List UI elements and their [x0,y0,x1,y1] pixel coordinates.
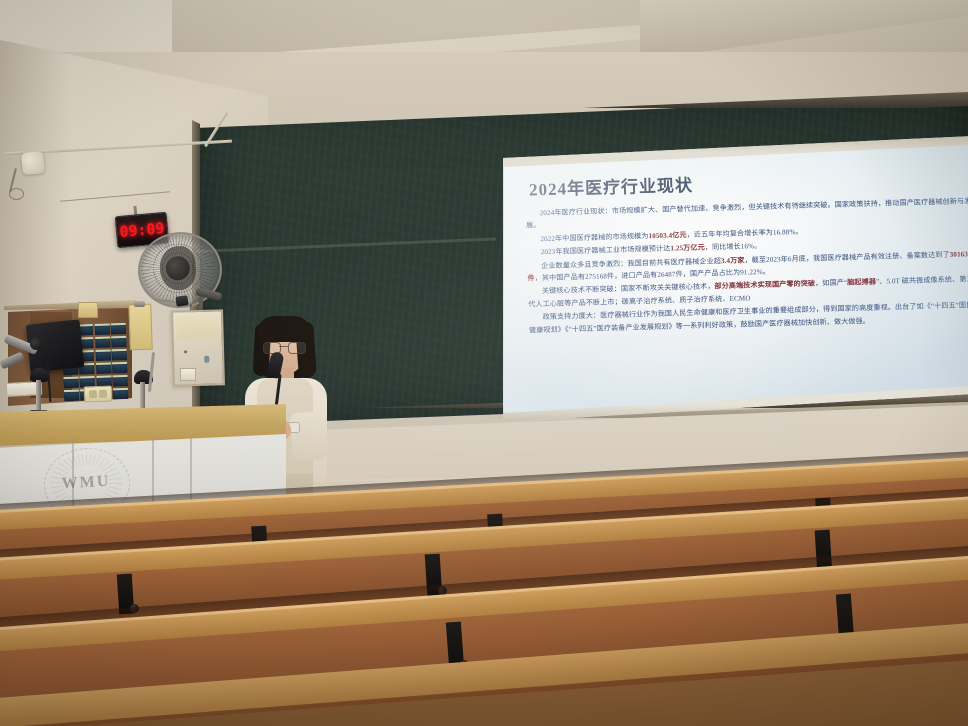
key-slot[interactable] [112,362,127,374]
notice-marker-icon [204,356,209,363]
key-slot[interactable] [94,323,109,335]
emergency-light-loop [9,188,24,200]
key-slot[interactable] [111,336,126,348]
presentation-slide: 2024年医疗行业现状 2024年医疗行业现状：市场规模扩大、国产替代加速、竞争… [496,136,968,422]
motion-sensor [175,295,188,307]
projection-screen: 2024年医疗行业现状 2024年医疗行业现状：市场规模扩大、国产替代加速、竞争… [496,136,968,422]
power-socket-pair[interactable] [84,386,113,403]
notice-sub-card [180,368,196,381]
key-slot[interactable] [63,376,78,388]
key-slot[interactable] [96,362,111,374]
slide-title: 2024年医疗行业现状 [529,171,694,201]
key-slot[interactable] [113,375,128,387]
presenter-hair-front [257,316,311,342]
wall-clipboard[interactable] [128,304,153,351]
key-slot[interactable] [95,336,110,348]
key-slot[interactable] [64,389,79,401]
key-slot[interactable] [95,349,110,361]
monitor-arm-joint [30,338,42,350]
slide-body: 2024年医疗行业现状：市场规模扩大、国产替代加速、竞争激烈，但关键技术有待继续… [526,195,968,338]
key-slot[interactable] [113,387,128,399]
lecture-hall-photo: 2024年医疗行业现状 2024年医疗行业现状：市场规模扩大、国产替代加速、竞争… [0,0,968,726]
clipboard-clip-icon [134,301,145,307]
wall-note-card [78,302,98,318]
key-slot[interactable] [111,323,126,335]
key-slot[interactable] [112,349,127,361]
notice-header-band [176,314,219,339]
emergency-light [21,151,45,175]
notice-pin-icon [184,350,187,353]
presenter-arm-right [289,411,329,462]
glasses-icon [262,342,306,352]
